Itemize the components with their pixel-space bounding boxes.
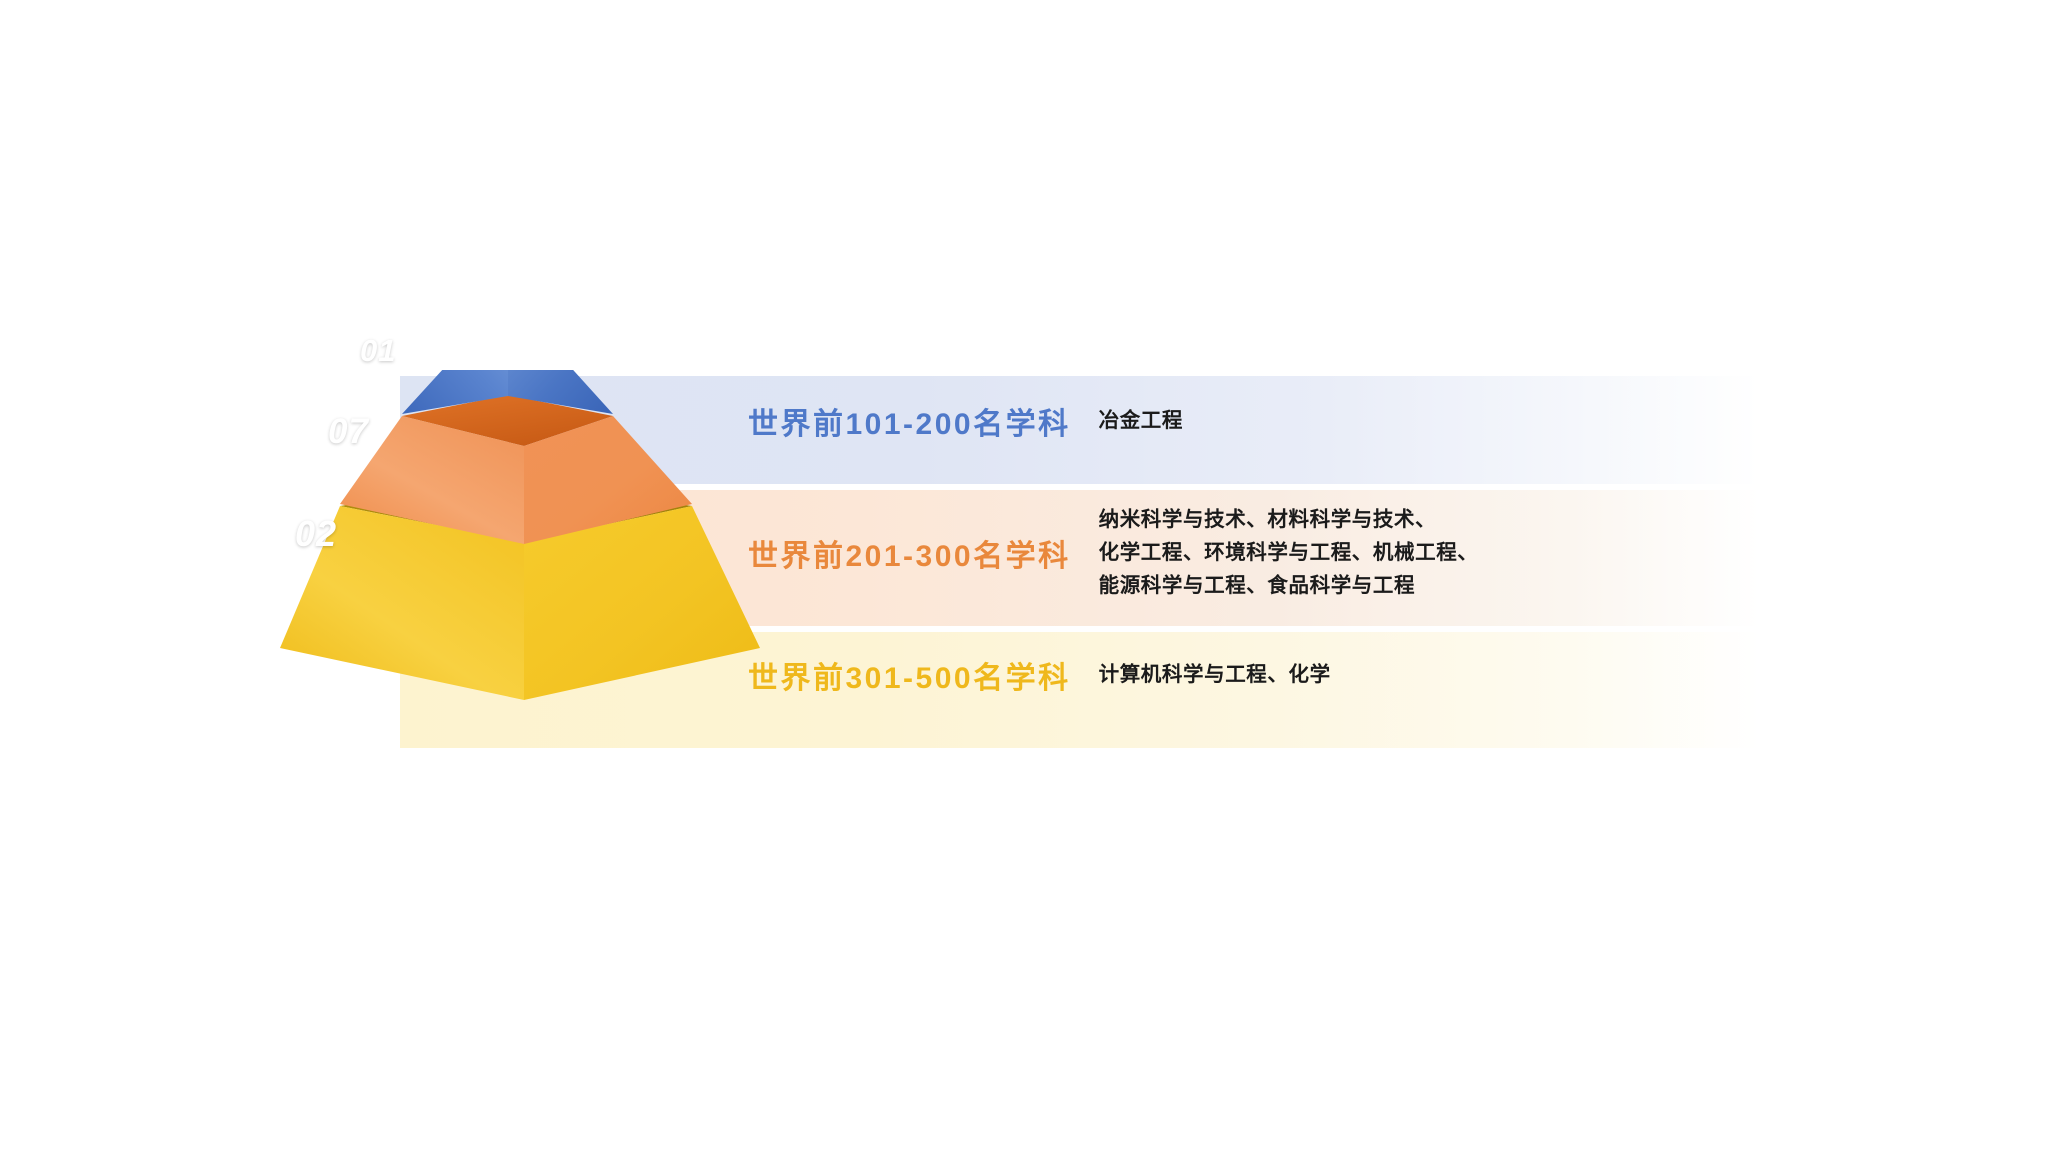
tier-row-3: 世界前301-500名学科 计算机科学与工程、化学: [748, 653, 1331, 697]
tier-row-1: 世界前101-200名学科 冶金工程: [748, 399, 1183, 443]
tier-1-subjects: 冶金工程: [1099, 404, 1183, 437]
tier-2-subjects: 纳米科学与技术、材料科学与技术、 化学工程、环境科学与工程、机械工程、 能源科学…: [1099, 503, 1479, 603]
tier-number-01: 01: [360, 333, 396, 369]
tier-3-title: 世界前301-500名学科: [748, 653, 1071, 697]
infographic-canvas: 01 07 02 世界前101-200名学科 冶金工程 世界前201-300名学…: [0, 0, 2048, 1152]
tier-1-title: 世界前101-200名学科: [748, 399, 1071, 443]
tier-2-title: 世界前201-300名学科: [748, 531, 1071, 575]
tier-row-2: 世界前201-300名学科 纳米科学与技术、材料科学与技术、 化学工程、环境科学…: [748, 503, 1478, 603]
tier-3-subjects: 计算机科学与工程、化学: [1099, 658, 1331, 691]
pyramid-graphic: [280, 370, 760, 790]
